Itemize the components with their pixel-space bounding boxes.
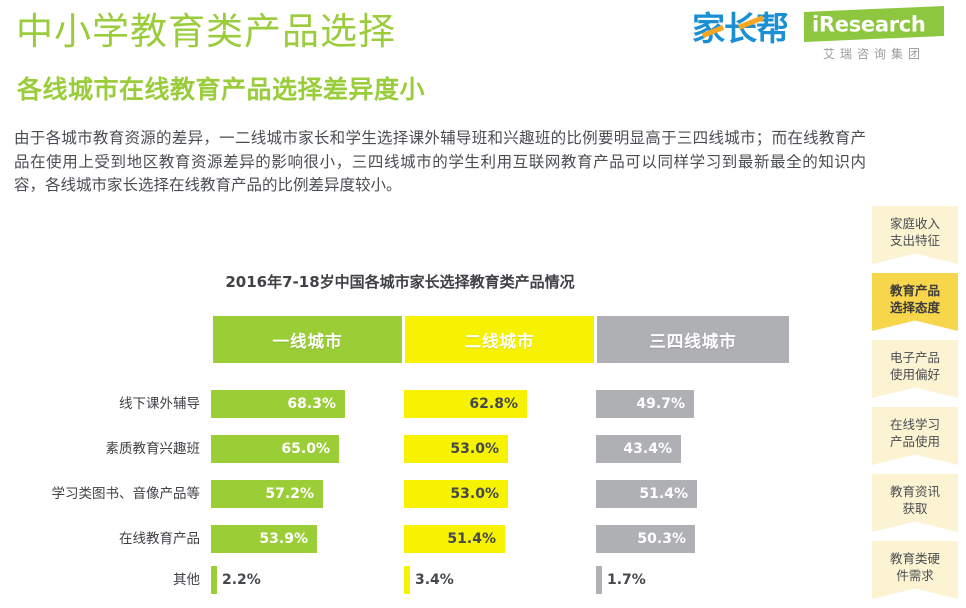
chart-bar-green: 65.0% (211, 435, 339, 463)
chart-bar-yellow: 3.4% (404, 566, 410, 594)
page-title: 中小学教育类产品选择 (16, 10, 396, 54)
page-subtitle: 各线城市在线教育产品选择差异度小 (17, 75, 425, 105)
chart-bar-yellow: 53.0% (404, 435, 508, 463)
chart-row: 素质教育兴趣班65.0%53.0%43.4% (0, 435, 845, 463)
jiazhangbang-logo: 家长帮 (692, 9, 798, 49)
chart-bar-value: 65.0% (281, 441, 339, 457)
legend-header-tier2: 二线城市 (405, 316, 594, 363)
chart-row-label: 其他 (0, 566, 200, 594)
chart-bar-gray: 51.4% (596, 480, 697, 508)
chart-bar-gray: 43.4% (596, 435, 681, 463)
sidebar-item-label: 获取 (872, 500, 958, 517)
chart-bar-green: 57.2% (211, 480, 323, 508)
chart-row-label: 学习类图书、音像产品等 (0, 480, 200, 508)
chart-bar-green: 2.2% (211, 566, 217, 594)
page-header: 中小学教育类产品选择 各线城市在线教育产品选择差异度小 家长帮 iResearc… (0, 0, 966, 118)
chart-bar-yellow: 62.8% (404, 390, 527, 418)
sidebar-item-label: 教育资讯 (872, 483, 958, 500)
legend-header-tier1: 一线城市 (213, 316, 402, 363)
logo-group: 家长帮 iResearch 艾瑞咨询集团 (692, 9, 944, 65)
legend-header-tier3: 三四线城市 (597, 316, 789, 363)
chart-row: 其他2.2%3.4%1.7% (0, 566, 845, 594)
chart-title: 2016年7-18岁中国各城市家长选择教育类产品情况 (0, 271, 800, 292)
chart-bar-value: 50.3% (637, 531, 695, 547)
chart-bar-value: 1.7% (602, 572, 646, 588)
iresearch-logo-text: iResearch (804, 12, 926, 36)
sidebar-item-label: 选择态度 (872, 299, 958, 316)
chart-bar-yellow: 53.0% (404, 480, 508, 508)
sidebar-item-4[interactable]: 教育资讯获取 (872, 474, 958, 532)
sidebar-item-label: 支出特征 (872, 232, 958, 249)
chart-bar-value: 53.0% (450, 441, 508, 457)
chart-bar-value: 53.0% (450, 486, 508, 502)
sidebar-item-2[interactable]: 电子产品使用偏好 (872, 340, 958, 398)
iresearch-logo-subtext: 艾瑞咨询集团 (804, 45, 944, 62)
intro-paragraph: 由于各城市教育资源的差异，一二线城市家长和学生选择课外辅导班和兴趣班的比例要明显… (14, 127, 866, 198)
chart-bar-value: 51.4% (639, 486, 697, 502)
sidebar-item-1[interactable]: 教育产品选择态度 (872, 273, 958, 331)
chart-bar-green: 53.9% (211, 525, 317, 553)
chart-bar-value: 3.4% (410, 572, 454, 588)
chart-row-label: 线下课外辅导 (0, 390, 200, 418)
chart-bar-value: 51.4% (447, 531, 505, 547)
sidebar-item-label: 使用偏好 (872, 366, 958, 383)
sidebar-item-label: 家庭收入 (872, 215, 958, 232)
chart-bar-gray: 1.7% (596, 566, 602, 594)
chart-bar-gray: 49.7% (596, 390, 694, 418)
chart-row-label: 在线教育产品 (0, 525, 200, 553)
sidebar-item-label: 在线学习 (872, 416, 958, 433)
chart-bar-value: 43.4% (623, 441, 681, 457)
sidebar-item-label: 件需求 (872, 567, 958, 584)
sidebar-item-label: 教育类硬 (872, 550, 958, 567)
chart-bar-yellow: 51.4% (404, 525, 505, 553)
chart-row: 学习类图书、音像产品等57.2%53.0%51.4% (0, 480, 845, 508)
iresearch-logo-banner: iResearch (804, 6, 944, 42)
chart-bar-value: 62.8% (469, 396, 527, 412)
chart-bar-green: 68.3% (211, 390, 345, 418)
sidebar-item-3[interactable]: 在线学习产品使用 (872, 407, 958, 465)
chart-panel: 2016年7-18岁中国各城市家长选择教育类产品情况 一线城市 二线城市 三四线… (0, 242, 845, 593)
chart-bar-value: 57.2% (265, 486, 323, 502)
chart-row: 在线教育产品53.9%51.4%50.3% (0, 525, 845, 553)
sidebar-item-label: 电子产品 (872, 349, 958, 366)
chart-bar-value: 2.2% (217, 572, 261, 588)
sidebar-item-label: 产品使用 (872, 433, 958, 450)
chart-row-label: 素质教育兴趣班 (0, 435, 200, 463)
iresearch-logo: iResearch 艾瑞咨询集团 (804, 9, 944, 62)
sidebar-item-0[interactable]: 家庭收入支出特征 (872, 206, 958, 264)
sidebar-item-label: 教育产品 (872, 282, 958, 299)
chart-bar-gray: 50.3% (596, 525, 695, 553)
chart-bar-value: 68.3% (287, 396, 345, 412)
chart-bar-value: 53.9% (259, 531, 317, 547)
chart-bar-value: 49.7% (636, 396, 694, 412)
section-navigation: 家庭收入支出特征教育产品选择态度电子产品使用偏好在线学习产品使用教育资讯获取教育… (872, 206, 958, 608)
chart-row: 线下课外辅导68.3%62.8%49.7% (0, 390, 845, 418)
sidebar-item-5[interactable]: 教育类硬件需求 (872, 541, 958, 599)
